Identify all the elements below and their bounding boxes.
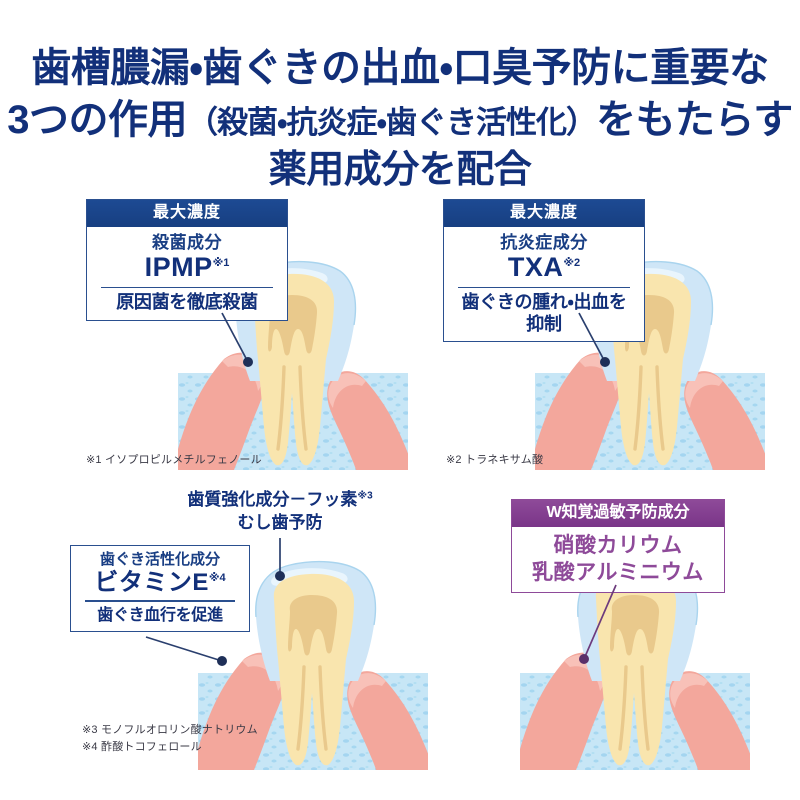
footnote-marker: ※3 (357, 490, 372, 501)
ingredient-category-label: 殺菌成分 (97, 232, 277, 253)
ingredient-name: IPMP※1 (97, 253, 277, 283)
footnote-1: ※1 イソプロピルメチルフェノール (86, 452, 262, 469)
card-body: 硝酸カリウム 乳酸アルミニウム (512, 527, 724, 593)
ingredient-name-potassium-nitrate: 硝酸カリウム (522, 532, 714, 559)
fluoride-caption: 歯質強化成分－フッ素※3 むし歯予防 (135, 489, 425, 535)
ingredient-card-txa: 最大濃度 抗炎症成分 TXA※2 歯ぐきの腫れ・出血を抑制 (443, 199, 645, 342)
ingredient-name-text: TXA (508, 252, 564, 282)
headline-line-1: 歯槽膿漏・歯ぐきの出血・口臭予防に重要な (0, 42, 800, 94)
fluoride-line-2: むし歯予防 (135, 512, 425, 535)
ingredient-card-vitamin-e: 歯ぐき活性化成分 ビタミンE※4 歯ぐき血行を促進 (70, 545, 250, 632)
fluoride-line-1: 歯質強化成分－フッ素※3 (135, 489, 425, 512)
card-divider (458, 287, 630, 288)
footnote-marker: ※2 (563, 257, 580, 269)
headline-line-2-part-b: （殺菌・抗炎症・歯ぐき活性化） (187, 105, 596, 140)
headline-line-2: 3つの作用（殺菌・抗炎症・歯ぐき活性化）をもたらす (0, 94, 800, 146)
ingredient-card-sensitivity: W知覚過敏予防成分 硝酸カリウム 乳酸アルミニウム (511, 499, 725, 593)
ingredient-name-text: ビタミンE (94, 569, 209, 596)
footnote-2: ※2 トラネキサム酸 (446, 452, 543, 469)
footnote-3: ※3 モノフルオロリン酸ナトリウム (82, 722, 258, 739)
card-body: 抗炎症成分 TXA※2 歯ぐきの腫れ・出血を抑制 (444, 227, 644, 342)
card-header-dual-sensitivity: W知覚過敏予防成分 (512, 500, 724, 527)
footnote-4: ※4 酢酸トコフェロール (82, 739, 258, 756)
footnote-marker: ※1 (213, 257, 230, 269)
ingredient-name: ビタミンE※4 (81, 570, 239, 596)
footnote-group-3-4: ※3 モノフルオロリン酸ナトリウム ※4 酢酸トコフェロール (82, 722, 258, 755)
ingredient-category-label: 抗炎症成分 (454, 232, 634, 253)
ingredient-name-aluminium-lactate: 乳酸アルミニウム (522, 559, 714, 586)
ingredient-category-label: 歯ぐき活性化成分 (81, 551, 239, 570)
infographic-canvas: 歯槽膿漏・歯ぐきの出血・口臭予防に重要な 3つの作用（殺菌・抗炎症・歯ぐき活性化… (0, 0, 800, 800)
card-divider (85, 600, 235, 601)
card-header-max-concentration: 最大濃度 (444, 200, 644, 227)
ingredient-effect: 歯ぐき血行を促進 (81, 606, 239, 625)
ingredient-effect: 歯ぐきの腫れ・出血を抑制 (454, 292, 634, 335)
page-title: 歯槽膿漏・歯ぐきの出血・口臭予防に重要な 3つの作用（殺菌・抗炎症・歯ぐき活性化… (0, 42, 800, 195)
headline-line-3: 薬用成分を配合 (0, 146, 800, 195)
card-header-max-concentration: 最大濃度 (87, 200, 287, 227)
card-divider (101, 287, 273, 288)
fluoride-text: 歯質強化成分－フッ素 (187, 490, 357, 509)
ingredient-name: TXA※2 (454, 253, 634, 283)
ingredient-name-text: IPMP (145, 252, 213, 282)
ingredient-card-ipmp: 最大濃度 殺菌成分 IPMP※1 原因菌を徹底殺菌 (86, 199, 288, 321)
card-body: 歯ぐき活性化成分 ビタミンE※4 歯ぐき血行を促進 (71, 546, 249, 631)
headline-line-2-part-c: をもたらす (596, 98, 793, 142)
headline-line-2-part-a: 3つの作用 (7, 98, 187, 142)
footnote-marker: ※4 (209, 572, 226, 584)
card-body: 殺菌成分 IPMP※1 原因菌を徹底殺菌 (87, 227, 287, 320)
ingredient-effect: 原因菌を徹底殺菌 (97, 292, 277, 314)
